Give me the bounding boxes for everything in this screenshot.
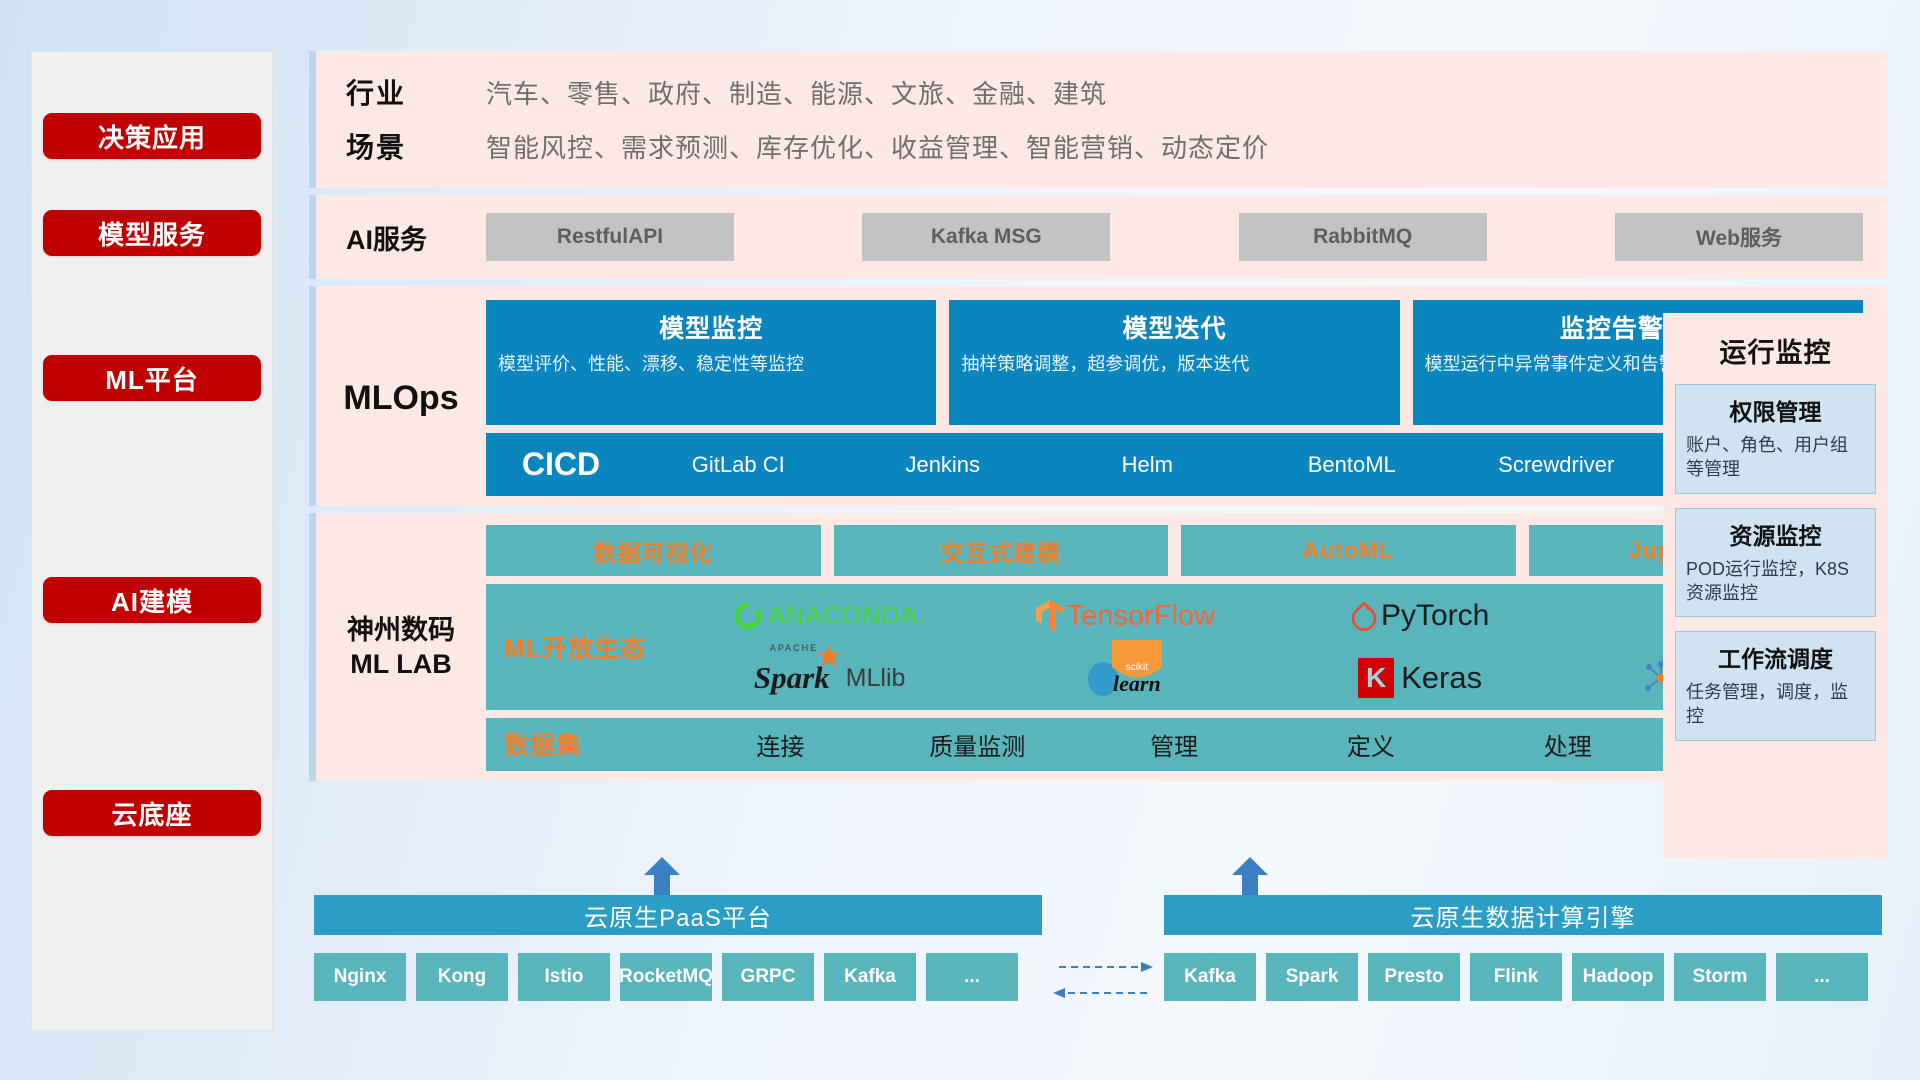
- dataset-item-process[interactable]: 处理: [1469, 727, 1666, 762]
- mlops-band: MLOps 模型监控 模型评价、性能、漂移、稳定性等监控 模型迭代 抽样策略调整…: [309, 286, 1887, 506]
- chip-more-paas[interactable]: ...: [926, 953, 1018, 1001]
- ml-ecosystem-label: ML开放生态: [504, 629, 682, 665]
- rail-item-cloud-base[interactable]: 云底座: [43, 790, 261, 836]
- dataset-label: 数据集: [504, 726, 682, 762]
- rail-item-label: 云底座: [111, 795, 192, 832]
- runtime-monitor-title: 运行监控: [1675, 313, 1876, 384]
- diagram-canvas: 决策应用 模型服务 ML平台 AI建模 云底座 行业 汽车、零售、政府、制造、能…: [0, 0, 1920, 1080]
- dataset-item-manage[interactable]: 管理: [1076, 727, 1273, 762]
- paas-chip-group: Nginx Kong Istio RocketMQ GRPC Kafka ...: [314, 953, 1018, 1001]
- rail-item-ml-platform[interactable]: ML平台: [43, 355, 261, 401]
- arrow-up-paas-icon: [640, 855, 684, 895]
- cicd-item-gitlab-ci[interactable]: GitLab CI: [636, 449, 841, 481]
- ai-service-kafka-msg-button[interactable]: Kafka MSG: [862, 213, 1110, 261]
- chip-kafka-compute[interactable]: Kafka: [1164, 953, 1256, 1001]
- monitor-card-workflow[interactable]: 工作流调度 任务管理，调度，监控: [1675, 631, 1876, 741]
- anaconda-logo-text: ANACONDA.: [768, 602, 926, 631]
- ai-modeling-band: 神州数码 ML LAB 数据可视化 交互式建模 AutoML JupyterLa…: [309, 513, 1887, 781]
- mlops-card-title: 模型迭代: [961, 309, 1387, 345]
- cicd-item-jenkins[interactable]: Jenkins: [841, 449, 1046, 481]
- rail-item-label: 模型服务: [98, 215, 206, 252]
- monitor-card-desc: POD运行监控，K8S资源监控: [1686, 557, 1865, 606]
- ai-service-button-group: RestfulAPI Kafka MSG RabbitMQ Web服务: [486, 213, 1887, 261]
- scikit-learn-logo: scikit learn: [977, 658, 1272, 698]
- monitor-card-desc: 账户、角色、用户组等管理: [1686, 433, 1865, 482]
- main-column: 行业 汽车、零售、政府、制造、能源、文旅、金融、建筑 场景 智能风控、需求预测、…: [309, 51, 1887, 781]
- mlops-card-model-iteration[interactable]: 模型迭代 抽样策略调整，超参调优，版本迭代: [949, 300, 1399, 425]
- tensorflow-logo-text: TensorFlow: [1067, 600, 1215, 633]
- dataset-item-connect[interactable]: 连接: [682, 727, 879, 762]
- tool-automl[interactable]: AutoML: [1181, 525, 1516, 576]
- ml-tool-group: 数据可视化 交互式建模 AutoML JupyterLab: [486, 525, 1863, 576]
- dataset-item-quality[interactable]: 质量监测: [879, 727, 1076, 762]
- decision-application-band: 行业 汽车、零售、政府、制造、能源、文旅、金融、建筑 场景 智能风控、需求预测、…: [309, 51, 1887, 188]
- rail-item-label: 决策应用: [98, 118, 206, 155]
- ai-service-restfulapi-button[interactable]: RestfulAPI: [486, 213, 734, 261]
- pytorch-logo-text: PyTorch: [1381, 599, 1489, 633]
- monitor-card-title: 工作流调度: [1686, 640, 1865, 674]
- chip-grpc[interactable]: GRPC: [722, 953, 814, 1001]
- tool-interactive-modeling[interactable]: 交互式建模: [834, 525, 1169, 576]
- chip-flink[interactable]: Flink: [1470, 953, 1562, 1001]
- dataset-row: 数据集 连接 质量监测 管理 定义 处理 加载: [486, 718, 1863, 771]
- chip-hadoop[interactable]: Hadoop: [1572, 953, 1664, 1001]
- scenario-values: 智能风控、需求预测、库存优化、收益管理、智能营销、动态定价: [486, 128, 1269, 165]
- arrow-up-compute-icon: [1228, 855, 1272, 895]
- chip-istio[interactable]: Istio: [518, 953, 610, 1001]
- chip-nginx[interactable]: Nginx: [314, 953, 406, 1001]
- monitor-card-permission[interactable]: 权限管理 账户、角色、用户组等管理: [1675, 384, 1876, 494]
- chip-presto[interactable]: Presto: [1368, 953, 1460, 1001]
- ai-service-band: AI服务 RestfulAPI Kafka MSG RabbitMQ Web服务: [309, 195, 1887, 279]
- anaconda-logo: ANACONDA.: [682, 601, 977, 631]
- cloud-paas-bar[interactable]: 云原生PaaS平台: [314, 895, 1042, 935]
- monitor-card-title: 权限管理: [1686, 393, 1865, 427]
- cicd-item-screwdriver[interactable]: Screwdriver: [1454, 449, 1659, 481]
- rail-item-decision-app[interactable]: 决策应用: [43, 113, 261, 159]
- mlops-card-model-monitoring[interactable]: 模型监控 模型评价、性能、漂移、稳定性等监控: [486, 300, 936, 425]
- cicd-label: CICD: [486, 446, 636, 483]
- cicd-item-helm[interactable]: Helm: [1045, 449, 1250, 481]
- chip-more-compute[interactable]: ...: [1776, 953, 1868, 1001]
- mlops-card-desc: 模型评价、性能、漂移、稳定性等监控: [498, 352, 924, 376]
- keras-logo-mark: K: [1358, 658, 1394, 698]
- ai-service-web-button[interactable]: Web服务: [1615, 213, 1863, 261]
- mlops-card-title: 模型监控: [498, 309, 924, 345]
- chip-kafka[interactable]: Kafka: [824, 953, 916, 1001]
- mlops-card-group: 模型监控 模型评价、性能、漂移、稳定性等监控 模型迭代 抽样策略调整，超参调优，…: [486, 300, 1863, 425]
- left-layer-rail: 决策应用 模型服务 ML平台 AI建模 云底座: [31, 51, 273, 1031]
- runtime-monitor-panel: 运行监控 权限管理 账户、角色、用户组等管理 资源监控 POD运行监控，K8S资…: [1663, 313, 1888, 859]
- cicd-bar: CICD GitLab CI Jenkins Helm BentoML Scre…: [486, 433, 1863, 496]
- pytorch-logo: PyTorch: [1273, 599, 1568, 633]
- ai-service-label: AI服务: [346, 218, 486, 257]
- scenario-row: 场景 智能风控、需求预测、库存优化、收益管理、智能营销、动态定价: [316, 119, 1887, 173]
- scenario-label: 场景: [346, 126, 486, 166]
- monitor-card-title: 资源监控: [1686, 517, 1865, 551]
- bidirectional-link: [1053, 957, 1153, 1005]
- spark-apache-text: APACHE: [770, 643, 818, 653]
- ml-lab-label: 神州数码 ML LAB: [316, 525, 486, 771]
- cicd-item-bentoml[interactable]: BentoML: [1250, 449, 1455, 481]
- mlops-label: MLOps: [316, 300, 486, 496]
- dataset-item-define[interactable]: 定义: [1272, 727, 1469, 762]
- mllib-logo-text: MLlib: [846, 664, 906, 693]
- cloud-compute-bar[interactable]: 云原生数据计算引擎: [1164, 895, 1882, 935]
- tool-data-visualization[interactable]: 数据可视化: [486, 525, 821, 576]
- chip-spark[interactable]: Spark: [1266, 953, 1358, 1001]
- monitor-card-resource[interactable]: 资源监控 POD运行监控，K8S资源监控: [1675, 508, 1876, 618]
- ml-ecosystem-row: ML开放生态 ANACONDA.: [486, 584, 1863, 710]
- spark-mllib-logo: APACHE Spark MLlib: [682, 660, 977, 696]
- monitor-card-desc: 任务管理，调度，监控: [1686, 680, 1865, 729]
- industry-row: 行业 汽车、零售、政府、制造、能源、文旅、金融、建筑: [316, 65, 1887, 119]
- ai-service-rabbitmq-button[interactable]: RabbitMQ: [1239, 213, 1487, 261]
- chip-rocketmq[interactable]: RocketMQ: [620, 953, 712, 1001]
- industry-label: 行业: [346, 72, 486, 112]
- rail-item-ai-modeling[interactable]: AI建模: [43, 577, 261, 623]
- chip-kong[interactable]: Kong: [416, 953, 508, 1001]
- mlops-card-desc: 抽样策略调整，超参调优，版本迭代: [961, 352, 1387, 376]
- chip-storm[interactable]: Storm: [1674, 953, 1766, 1001]
- rail-item-label: ML平台: [105, 360, 199, 397]
- compute-chip-group: Kafka Spark Presto Flink Hadoop Storm ..…: [1164, 953, 1868, 1001]
- keras-logo: K Keras: [1273, 658, 1568, 698]
- learn-logo-text: learn: [1110, 673, 1164, 695]
- keras-logo-text: Keras: [1401, 660, 1482, 696]
- ml-lab-label-line1: 神州数码: [347, 614, 455, 648]
- industry-values: 汽车、零售、政府、制造、能源、文旅、金融、建筑: [486, 74, 1107, 111]
- rail-item-model-service[interactable]: 模型服务: [43, 210, 261, 256]
- ml-lab-label-line2: ML LAB: [350, 648, 452, 682]
- tensorflow-logo: TensorFlow: [977, 599, 1272, 633]
- rail-item-label: AI建模: [111, 582, 193, 619]
- cloud-base-section: 云原生PaaS平台 云原生数据计算引擎 Nginx Kong Istio Roc…: [309, 895, 1887, 1035]
